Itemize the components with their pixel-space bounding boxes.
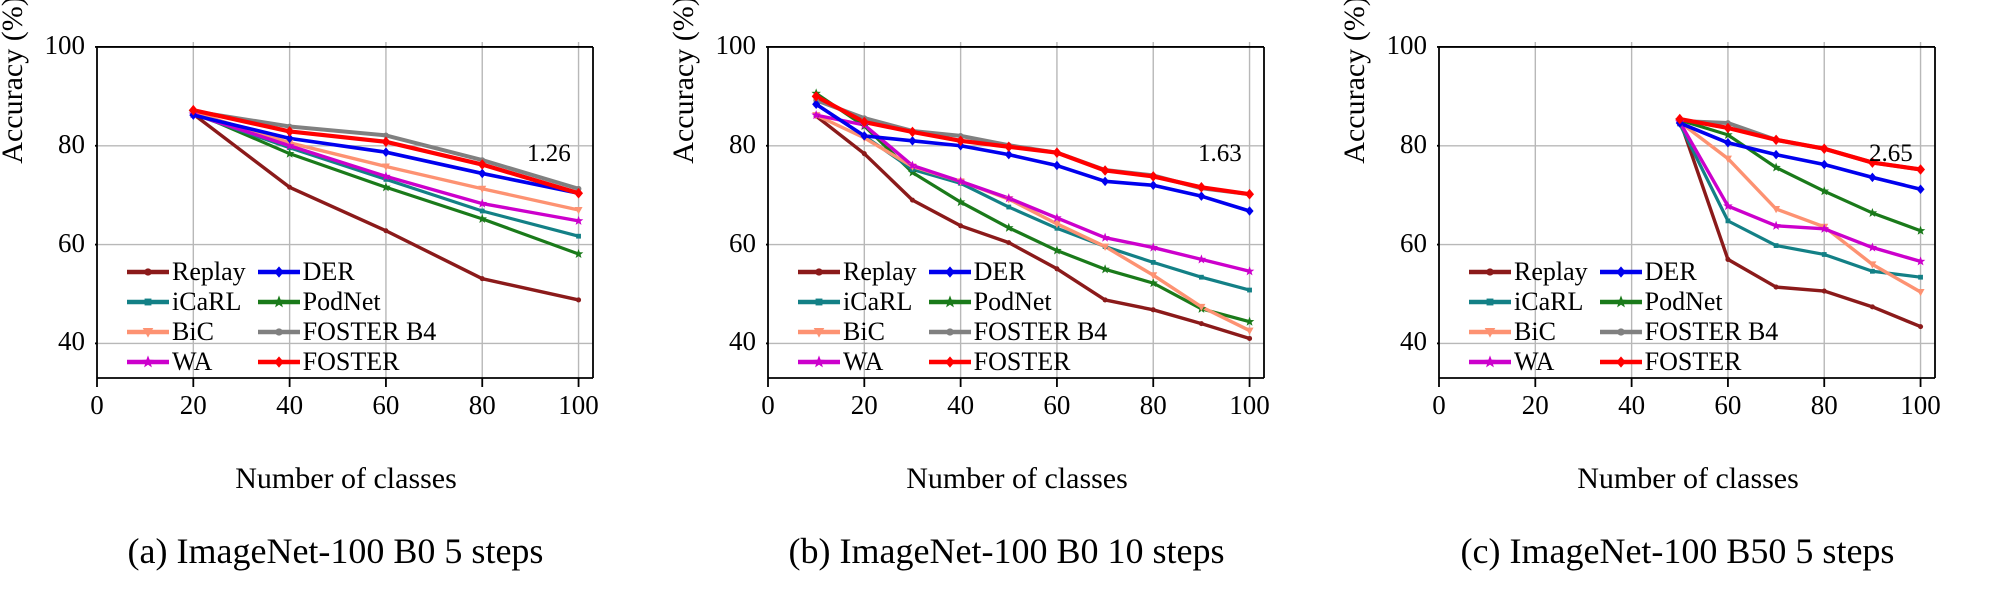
y-axis-label-b: Accuracy (%) xyxy=(667,0,701,200)
x-tick-label: 60 xyxy=(1027,390,1087,421)
x-tick-label: 60 xyxy=(356,390,416,421)
legend-marker-der-icon xyxy=(927,260,973,284)
legend-label: Replay xyxy=(843,257,917,286)
legend-item-icarl[interactable]: iCaRL xyxy=(1467,287,1598,317)
legend-item-bic[interactable]: BiC xyxy=(125,317,256,347)
legend-item-der[interactable]: DER xyxy=(1598,257,1789,287)
legend-item-foster-b4[interactable]: FOSTER B4 xyxy=(1598,317,1789,347)
legend-item-podnet[interactable]: PodNet xyxy=(1598,287,1789,317)
legend-marker-foster-b4-icon xyxy=(1598,320,1644,344)
legend-marker-replay-icon xyxy=(1467,260,1513,284)
legend-label: FOSTER B4 xyxy=(974,317,1108,346)
improvement-annotation: 2.65 xyxy=(1869,140,1913,168)
legend-label: FOSTER B4 xyxy=(1645,317,1779,346)
legend-row: ReplayDER xyxy=(1467,257,1788,287)
legend-label: Replay xyxy=(172,257,246,286)
legend-marker-replay-icon xyxy=(125,260,171,284)
x-tick-label: 80 xyxy=(1123,390,1183,421)
x-tick-label: 80 xyxy=(452,390,512,421)
legend-item-replay[interactable]: Replay xyxy=(1467,257,1598,287)
legend-item-foster[interactable]: FOSTER xyxy=(927,347,1118,377)
chart-panel-c: Accuracy (%) Number of classes (c) Image… xyxy=(1342,0,2013,610)
legend-marker-replay-icon xyxy=(796,260,842,284)
legend-label: FOSTER B4 xyxy=(303,317,437,346)
legend-row: BiCFOSTER B4 xyxy=(796,317,1117,347)
legend-row: WAFOSTER xyxy=(1467,347,1788,377)
legend-marker-foster-icon xyxy=(256,350,302,374)
x-tick-label: 100 xyxy=(1891,390,1951,421)
y-tick-label: 40 xyxy=(29,326,85,357)
legend-item-foster[interactable]: FOSTER xyxy=(256,347,447,377)
legend-table: ReplayDERiCaRLPodNetBiCFOSTER B4WAFOSTER xyxy=(796,257,1117,377)
legend-item-podnet[interactable]: PodNet xyxy=(256,287,447,317)
legend-label: iCaRL xyxy=(172,287,241,316)
legend-label: BiC xyxy=(843,317,885,346)
legend-label: DER xyxy=(1645,257,1697,286)
x-tick-label: 20 xyxy=(1505,390,1565,421)
legend-label: PodNet xyxy=(1645,287,1723,316)
legend-item-podnet[interactable]: PodNet xyxy=(927,287,1118,317)
legend-marker-wa-icon xyxy=(796,350,842,374)
x-tick-label: 20 xyxy=(163,390,223,421)
legend-marker-foster-b4-icon xyxy=(927,320,973,344)
legend-label: FOSTER xyxy=(1645,347,1742,376)
legend-marker-podnet-icon xyxy=(927,290,973,314)
legend-marker-der-icon xyxy=(256,260,302,284)
legend-item-wa[interactable]: WA xyxy=(796,347,927,377)
y-axis-label-c: Accuracy (%) xyxy=(1338,0,1372,200)
y-tick-label: 80 xyxy=(700,129,756,160)
x-tick-label: 100 xyxy=(1220,390,1280,421)
chart-panel-a: Accuracy (%) Number of classes (a) Image… xyxy=(0,0,671,610)
x-tick-label: 0 xyxy=(738,390,798,421)
legend-item-der[interactable]: DER xyxy=(256,257,447,287)
y-tick-label: 100 xyxy=(700,30,756,61)
legend-label: Replay xyxy=(1514,257,1588,286)
x-tick-label: 0 xyxy=(1409,390,1469,421)
y-tick-label: 40 xyxy=(1371,326,1427,357)
legend-item-wa[interactable]: WA xyxy=(125,347,256,377)
y-tick-label: 100 xyxy=(29,30,85,61)
legend-marker-wa-icon xyxy=(125,350,171,374)
legend-marker-bic-icon xyxy=(796,320,842,344)
legend-marker-bic-icon xyxy=(125,320,171,344)
legend-marker-der-icon xyxy=(1598,260,1644,284)
legend-item-bic[interactable]: BiC xyxy=(1467,317,1598,347)
x-tick-label: 100 xyxy=(549,390,609,421)
series-markers-der xyxy=(812,99,1253,215)
y-tick-label: 100 xyxy=(1371,30,1427,61)
x-tick-label: 80 xyxy=(1794,390,1854,421)
x-tick-label: 20 xyxy=(834,390,894,421)
legend-row: BiCFOSTER B4 xyxy=(125,317,446,347)
improvement-annotation: 1.26 xyxy=(527,140,571,168)
legend-item-der[interactable]: DER xyxy=(927,257,1118,287)
y-tick-label: 80 xyxy=(29,129,85,160)
legend-row: ReplayDER xyxy=(796,257,1117,287)
legend-label: FOSTER xyxy=(974,347,1071,376)
legend: ReplayDERiCaRLPodNetBiCFOSTER B4WAFOSTER xyxy=(796,257,1117,377)
legend-item-icarl[interactable]: iCaRL xyxy=(796,287,927,317)
improvement-annotation: 1.63 xyxy=(1198,140,1242,168)
x-tick-label: 40 xyxy=(931,390,991,421)
legend-label: DER xyxy=(974,257,1026,286)
figure-root: Accuracy (%) Number of classes (a) Image… xyxy=(0,0,2013,610)
legend-label: iCaRL xyxy=(1514,287,1583,316)
legend-row: iCaRLPodNet xyxy=(1467,287,1788,317)
legend-marker-podnet-icon xyxy=(256,290,302,314)
legend: ReplayDERiCaRLPodNetBiCFOSTER B4WAFOSTER xyxy=(125,257,446,377)
y-tick-label: 40 xyxy=(700,326,756,357)
x-tick-label: 0 xyxy=(67,390,127,421)
legend-row: BiCFOSTER B4 xyxy=(1467,317,1788,347)
series-der xyxy=(816,104,1249,211)
legend-marker-icarl-icon xyxy=(796,290,842,314)
legend-marker-foster-icon xyxy=(927,350,973,374)
legend-label: BiC xyxy=(1514,317,1556,346)
legend-marker-bic-icon xyxy=(1467,320,1513,344)
legend-label: WA xyxy=(843,347,883,376)
chart-panel-b: Accuracy (%) Number of classes (b) Image… xyxy=(671,0,1342,610)
legend-label: FOSTER xyxy=(303,347,400,376)
x-axis-label-c: Number of classes xyxy=(1437,462,1939,496)
legend-item-foster-b4[interactable]: FOSTER B4 xyxy=(256,317,447,347)
legend-item-wa[interactable]: WA xyxy=(1467,347,1598,377)
legend-label: WA xyxy=(1514,347,1554,376)
legend-table: ReplayDERiCaRLPodNetBiCFOSTER B4WAFOSTER xyxy=(1467,257,1788,377)
y-tick-label: 60 xyxy=(29,228,85,259)
legend-row: WAFOSTER xyxy=(125,347,446,377)
legend-table: ReplayDERiCaRLPodNetBiCFOSTER B4WAFOSTER xyxy=(125,257,446,377)
legend-item-foster-b4[interactable]: FOSTER B4 xyxy=(927,317,1118,347)
legend-item-foster[interactable]: FOSTER xyxy=(1598,347,1789,377)
legend: ReplayDERiCaRLPodNetBiCFOSTER B4WAFOSTER xyxy=(1467,257,1788,377)
legend-marker-icarl-icon xyxy=(1467,290,1513,314)
x-tick-label: 60 xyxy=(1698,390,1758,421)
y-tick-label: 60 xyxy=(700,228,756,259)
legend-row: iCaRLPodNet xyxy=(125,287,446,317)
x-axis-label-b: Number of classes xyxy=(766,462,1268,496)
legend-label: WA xyxy=(172,347,212,376)
legend-label: BiC xyxy=(172,317,214,346)
y-axis-label-a: Accuracy (%) xyxy=(0,0,30,200)
legend-label: PodNet xyxy=(303,287,381,316)
x-tick-label: 40 xyxy=(260,390,320,421)
panel-caption-c: (c) ImageNet-100 B50 5 steps xyxy=(1342,530,2013,572)
legend-item-replay[interactable]: Replay xyxy=(125,257,256,287)
legend-row: iCaRLPodNet xyxy=(796,287,1117,317)
legend-item-bic[interactable]: BiC xyxy=(796,317,927,347)
legend-label: iCaRL xyxy=(843,287,912,316)
legend-label: PodNet xyxy=(974,287,1052,316)
legend-marker-icarl-icon xyxy=(125,290,171,314)
legend-marker-foster-icon xyxy=(1598,350,1644,374)
legend-marker-foster-b4-icon xyxy=(256,320,302,344)
panel-caption-b: (b) ImageNet-100 B0 10 steps xyxy=(671,530,1342,572)
panel-caption-a: (a) ImageNet-100 B0 5 steps xyxy=(0,530,671,572)
legend-label: DER xyxy=(303,257,355,286)
legend-row: ReplayDER xyxy=(125,257,446,287)
x-tick-label: 40 xyxy=(1602,390,1662,421)
legend-row: WAFOSTER xyxy=(796,347,1117,377)
legend-marker-podnet-icon xyxy=(1598,290,1644,314)
x-axis-label-a: Number of classes xyxy=(95,462,597,496)
y-tick-label: 60 xyxy=(1371,228,1427,259)
y-tick-label: 80 xyxy=(1371,129,1427,160)
legend-marker-wa-icon xyxy=(1467,350,1513,374)
legend-item-replay[interactable]: Replay xyxy=(796,257,927,287)
legend-item-icarl[interactable]: iCaRL xyxy=(125,287,256,317)
